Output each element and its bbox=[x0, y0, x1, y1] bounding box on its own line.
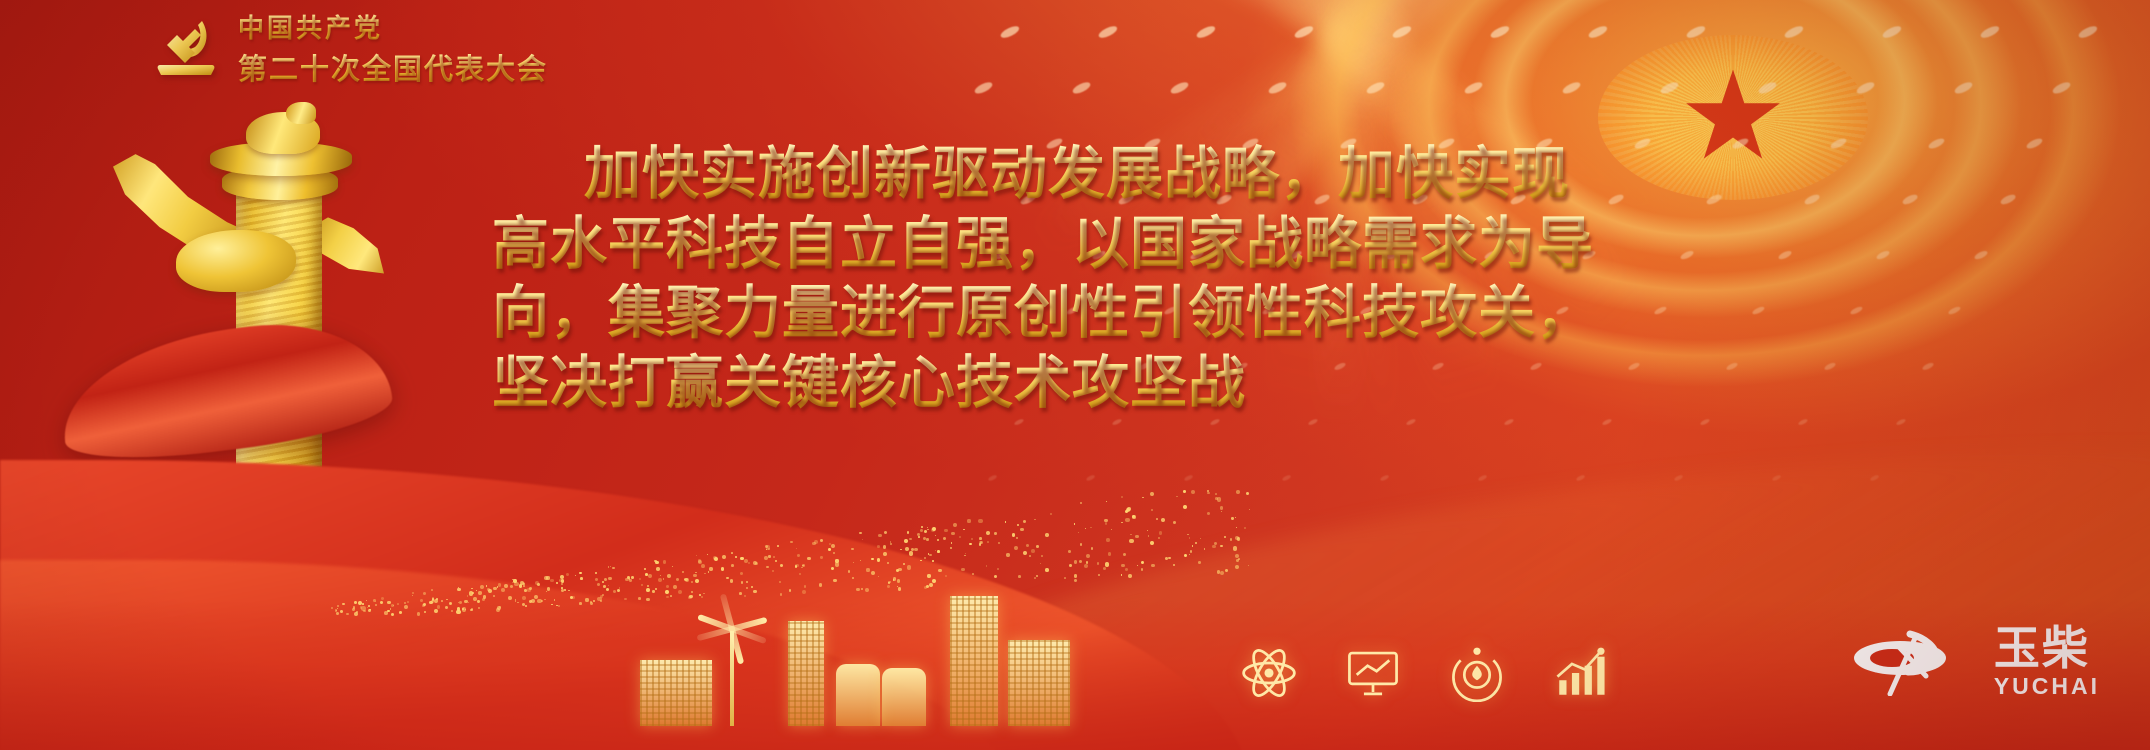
gold-particle bbox=[773, 556, 775, 558]
gold-particle bbox=[397, 603, 399, 605]
gold-particle bbox=[1105, 522, 1108, 525]
gold-particle bbox=[953, 523, 957, 527]
gold-particle bbox=[446, 599, 447, 600]
gold-particle bbox=[560, 575, 564, 579]
sparkle-dot bbox=[1391, 24, 1413, 40]
gold-particle bbox=[602, 581, 604, 583]
gold-particle bbox=[604, 578, 607, 581]
gold-particle bbox=[923, 537, 926, 540]
gold-particle bbox=[1200, 538, 1201, 539]
gold-particle bbox=[896, 569, 899, 572]
gold-particle bbox=[1020, 528, 1024, 532]
gold-particle bbox=[997, 568, 999, 570]
gold-particle bbox=[1235, 536, 1239, 540]
gold-particle bbox=[510, 585, 513, 588]
gold-particle bbox=[1147, 530, 1148, 531]
gold-particle bbox=[1121, 496, 1123, 498]
gold-particle bbox=[772, 570, 774, 572]
gold-particle bbox=[1132, 515, 1136, 519]
gold-particle bbox=[1189, 554, 1190, 555]
gold-particle bbox=[544, 576, 548, 580]
gold-particle bbox=[1142, 497, 1143, 498]
gold-particle bbox=[381, 597, 384, 600]
tech-icon-row bbox=[1240, 644, 1610, 702]
sparkle-dot bbox=[1195, 24, 1217, 40]
gold-particle bbox=[1231, 517, 1233, 519]
gold-particle bbox=[1224, 536, 1226, 538]
gold-particle bbox=[566, 573, 569, 576]
gold-particle bbox=[393, 605, 394, 606]
gold-particle bbox=[550, 579, 554, 583]
gold-particle bbox=[887, 562, 890, 565]
gold-particle bbox=[546, 576, 549, 579]
gold-particle bbox=[917, 533, 920, 536]
gold-particle bbox=[368, 609, 371, 612]
gold-particle bbox=[866, 568, 869, 571]
gold-particle bbox=[829, 543, 831, 545]
gold-particle bbox=[407, 601, 409, 603]
gold-particle bbox=[961, 568, 965, 572]
gold-particle bbox=[512, 582, 513, 583]
congress-title-line1: 中国共产党 bbox=[238, 8, 548, 45]
gold-particle bbox=[514, 582, 518, 586]
gold-particle bbox=[541, 600, 543, 602]
sparkle-dot bbox=[1463, 80, 1483, 95]
gold-particle bbox=[471, 588, 472, 589]
gold-particle bbox=[391, 604, 394, 607]
gold-particle bbox=[603, 585, 606, 588]
gold-particle bbox=[423, 592, 426, 595]
gold-particle bbox=[497, 606, 501, 610]
gold-particle bbox=[342, 603, 344, 605]
gold-particle bbox=[1125, 568, 1128, 571]
gold-particle bbox=[336, 612, 339, 615]
gold-particle bbox=[1106, 538, 1110, 542]
gold-particle bbox=[373, 599, 376, 602]
sparkle-dot bbox=[1267, 80, 1287, 95]
gold-particle bbox=[859, 532, 861, 534]
gold-particle bbox=[600, 595, 603, 598]
gold-particle bbox=[486, 585, 487, 586]
gold-particle bbox=[624, 598, 627, 601]
building-round-b bbox=[882, 668, 926, 726]
gold-particle bbox=[1078, 532, 1079, 533]
gold-particle bbox=[1221, 511, 1222, 512]
gold-particle bbox=[346, 613, 349, 616]
gold-particle bbox=[608, 566, 609, 567]
gold-particle bbox=[391, 613, 394, 616]
wind-turbine-icon bbox=[730, 631, 734, 726]
gold-particle bbox=[1236, 490, 1240, 494]
gold-particle bbox=[878, 534, 882, 538]
gold-particle bbox=[1244, 527, 1246, 529]
gold-particle bbox=[1137, 565, 1138, 566]
gold-particle bbox=[695, 572, 697, 574]
sparkle-dot bbox=[1979, 24, 2001, 40]
sparkle-dot bbox=[2051, 80, 2071, 95]
gold-particle bbox=[835, 559, 838, 562]
gold-particle bbox=[1183, 505, 1187, 509]
gold-particle bbox=[459, 601, 462, 604]
gold-particle bbox=[909, 538, 912, 541]
gold-particle bbox=[909, 551, 913, 555]
gold-particle bbox=[482, 598, 485, 601]
gold-particle bbox=[1158, 537, 1160, 539]
sparkle-dot bbox=[1210, 418, 1221, 426]
gold-particle bbox=[959, 536, 961, 538]
gold-particle bbox=[456, 610, 460, 614]
gold-particle bbox=[544, 599, 546, 601]
gold-particle bbox=[764, 556, 768, 560]
gold-particle bbox=[795, 565, 798, 568]
gold-particle bbox=[766, 566, 769, 569]
gold-particle bbox=[1217, 497, 1221, 501]
gold-particle bbox=[336, 610, 337, 611]
gold-particle bbox=[1135, 535, 1138, 538]
gold-particle bbox=[1041, 555, 1043, 557]
gold-particle bbox=[354, 612, 358, 616]
data-circle-icon bbox=[1448, 644, 1506, 702]
gold-particle bbox=[980, 541, 983, 544]
gold-particle bbox=[1151, 564, 1155, 568]
gold-particle bbox=[871, 558, 873, 560]
gold-particle bbox=[473, 597, 477, 601]
gold-particle bbox=[1108, 552, 1112, 556]
gold-particle bbox=[920, 529, 923, 532]
gold-particle bbox=[831, 544, 835, 548]
gold-particle bbox=[924, 557, 926, 559]
gold-particle bbox=[1080, 502, 1082, 504]
gold-particle bbox=[361, 606, 365, 610]
gold-particle bbox=[851, 548, 853, 550]
gold-particle bbox=[656, 567, 660, 571]
sparkle-dot bbox=[1700, 418, 1711, 426]
building-low bbox=[640, 660, 712, 726]
gold-particle bbox=[369, 609, 371, 611]
gold-particle bbox=[1192, 545, 1193, 546]
gold-particle bbox=[457, 607, 461, 611]
gold-particle bbox=[1012, 533, 1016, 537]
gold-particle bbox=[610, 566, 611, 567]
gold-particle bbox=[523, 583, 525, 585]
gold-particle bbox=[1016, 537, 1018, 539]
gold-particle bbox=[522, 596, 526, 600]
slogan-block: 加快实施创新驱动发展战略，加快实现 高水平科技自立自强，以国家战略需求为导 向，… bbox=[492, 140, 1692, 418]
gold-particle bbox=[907, 531, 909, 533]
gold-particle bbox=[644, 568, 646, 570]
yuchai-ellipse-mark-icon bbox=[1850, 630, 1978, 696]
gold-particle bbox=[556, 605, 557, 606]
building-mid bbox=[1008, 640, 1070, 726]
slogan-line-2: 高水平科技自立自强，以国家战略需求为导 bbox=[492, 210, 1692, 280]
gold-particle bbox=[1031, 549, 1035, 553]
gold-particle bbox=[731, 552, 733, 554]
gold-particle bbox=[907, 565, 911, 569]
gold-particle bbox=[1123, 553, 1126, 556]
gold-particle bbox=[1014, 546, 1018, 550]
gold-particle bbox=[1050, 513, 1052, 515]
sparkle-dot bbox=[1086, 474, 1096, 481]
atom-icon bbox=[1240, 644, 1298, 702]
gold-particle bbox=[471, 608, 474, 611]
gold-particle bbox=[1156, 518, 1158, 520]
gold-particle bbox=[478, 591, 481, 594]
gold-particle bbox=[1230, 538, 1233, 541]
gold-particle bbox=[903, 563, 905, 565]
gold-particle bbox=[998, 542, 1000, 544]
gold-particle bbox=[469, 591, 473, 595]
gold-particle bbox=[963, 529, 964, 530]
gold-particle bbox=[924, 530, 927, 533]
sparkle-dot bbox=[1803, 193, 1820, 206]
sparkle-dot bbox=[1380, 474, 1390, 481]
gold-particle bbox=[423, 603, 426, 606]
sparkle-dot bbox=[1849, 305, 1863, 316]
gold-particle bbox=[337, 605, 339, 607]
gold-particle bbox=[1189, 537, 1191, 539]
yuchai-logo: 玉柴 YUCHAI bbox=[1850, 626, 2100, 700]
gold-particle bbox=[937, 550, 940, 553]
gold-particle bbox=[1173, 521, 1176, 524]
gold-particle bbox=[905, 547, 909, 551]
gold-particle bbox=[337, 608, 338, 609]
gold-particle bbox=[462, 608, 464, 610]
gold-particle bbox=[964, 555, 966, 557]
gold-particle bbox=[987, 541, 989, 543]
gold-particle bbox=[498, 583, 502, 587]
gold-particle bbox=[831, 567, 835, 571]
gold-particle bbox=[848, 570, 851, 573]
gold-particle bbox=[1235, 517, 1236, 518]
gold-particle bbox=[1220, 545, 1222, 547]
gold-particle bbox=[450, 603, 451, 604]
gold-particle bbox=[833, 552, 835, 554]
yuchai-cn-text: 玉柴 bbox=[1994, 626, 2090, 670]
sparkle-dot bbox=[1927, 137, 1946, 151]
gold-particle bbox=[449, 602, 453, 606]
congress-title-line2: 第二十次全国代表大会 bbox=[238, 46, 548, 88]
gold-particle bbox=[1085, 528, 1086, 529]
gold-particle bbox=[488, 589, 492, 593]
gold-particle bbox=[437, 605, 441, 609]
gold-particle bbox=[579, 572, 582, 575]
gold-particle bbox=[1111, 529, 1112, 530]
gold-particle bbox=[554, 599, 556, 601]
gold-particle bbox=[468, 602, 469, 603]
building-round-a bbox=[836, 664, 880, 726]
gold-particle bbox=[404, 602, 406, 604]
sparkle-dot bbox=[1726, 362, 1739, 371]
gold-particle bbox=[1005, 521, 1007, 523]
gold-particle bbox=[597, 597, 601, 601]
gold-particle bbox=[517, 602, 519, 604]
gold-particle bbox=[768, 555, 770, 557]
gold-particle bbox=[340, 610, 343, 613]
sparkle-dot bbox=[973, 80, 993, 95]
sparkle-dot bbox=[1881, 24, 1903, 40]
gold-particle bbox=[884, 531, 887, 534]
gold-particle bbox=[775, 560, 777, 562]
gold-particle bbox=[602, 594, 604, 596]
gold-particle bbox=[820, 556, 822, 558]
gold-particle bbox=[580, 577, 583, 580]
gold-particle bbox=[524, 589, 527, 592]
gold-particle bbox=[921, 526, 923, 528]
gold-particle bbox=[353, 606, 355, 608]
gold-particle bbox=[493, 595, 495, 597]
gold-particle bbox=[535, 581, 539, 585]
gold-particle bbox=[853, 562, 854, 563]
sparkle-dot bbox=[1824, 362, 1837, 371]
gold-particle bbox=[1086, 554, 1090, 558]
gold-particle bbox=[755, 562, 758, 565]
gold-particle bbox=[1074, 560, 1077, 563]
gold-particle bbox=[654, 560, 657, 563]
gold-particle bbox=[696, 555, 697, 556]
gold-particle bbox=[1017, 524, 1019, 526]
gold-particle bbox=[551, 604, 553, 606]
gold-particle bbox=[537, 583, 540, 586]
gold-particle bbox=[1125, 518, 1129, 522]
gold-particle bbox=[835, 562, 839, 566]
gold-particle bbox=[436, 598, 438, 600]
gold-particle bbox=[898, 568, 901, 571]
sparkle-dot bbox=[1282, 474, 1292, 481]
gold-particle bbox=[366, 600, 368, 602]
gold-particle bbox=[1246, 492, 1249, 495]
gold-particle bbox=[429, 601, 432, 604]
gold-particle bbox=[487, 588, 490, 591]
golden-city-skyline bbox=[630, 576, 1190, 726]
gold-particle bbox=[920, 560, 922, 562]
gold-particle bbox=[709, 567, 712, 570]
yuchai-en-text: YUCHAI bbox=[1994, 673, 2100, 700]
gold-particle bbox=[352, 608, 355, 611]
sparkle-dot bbox=[2077, 24, 2099, 40]
gold-particle bbox=[380, 601, 383, 604]
gold-particle bbox=[911, 548, 914, 551]
gold-particle bbox=[790, 541, 792, 543]
gold-particle bbox=[1127, 507, 1131, 511]
gold-particle bbox=[335, 609, 338, 612]
gold-particle bbox=[619, 587, 620, 588]
gold-particle bbox=[1023, 520, 1026, 523]
five-pointed-star-icon bbox=[1685, 70, 1781, 166]
gold-particle bbox=[655, 561, 658, 564]
sparkle-dot bbox=[1947, 305, 1961, 316]
gold-particle bbox=[814, 540, 818, 544]
gold-particle bbox=[390, 608, 391, 609]
sparkle-dot bbox=[1922, 362, 1935, 371]
gold-particle bbox=[1214, 542, 1217, 545]
gold-particle bbox=[721, 567, 724, 570]
gold-particle bbox=[1105, 562, 1109, 566]
gold-particle bbox=[1190, 550, 1192, 552]
gold-particle bbox=[1204, 548, 1206, 550]
gold-particle bbox=[384, 611, 388, 615]
gold-particle bbox=[523, 585, 525, 587]
gold-particle bbox=[967, 519, 970, 522]
gold-particle bbox=[520, 581, 524, 585]
gold-particle bbox=[965, 553, 966, 554]
gold-particle bbox=[593, 600, 595, 602]
gold-particle bbox=[424, 611, 426, 613]
sparkle-dot bbox=[1875, 249, 1891, 261]
sparkle-dot bbox=[1561, 80, 1581, 95]
gold-particle bbox=[935, 535, 936, 536]
gold-particle bbox=[508, 596, 512, 600]
gold-particle bbox=[971, 538, 973, 540]
gold-particle bbox=[807, 557, 810, 560]
gold-particle bbox=[331, 607, 332, 608]
sparkle-dot bbox=[2025, 137, 2044, 151]
sparkle-dot bbox=[1999, 193, 2016, 206]
gold-particle bbox=[1045, 568, 1049, 572]
gold-particle bbox=[1029, 555, 1031, 557]
gold-particle bbox=[422, 604, 425, 607]
gold-particle bbox=[1130, 534, 1132, 536]
gold-particle bbox=[1036, 545, 1039, 548]
gold-particle bbox=[1195, 542, 1197, 544]
gold-particle bbox=[1132, 515, 1135, 518]
gold-particle bbox=[978, 519, 982, 523]
sparkle-dot bbox=[1478, 474, 1488, 481]
sparkle-dot bbox=[988, 474, 998, 481]
gold-particle bbox=[1084, 564, 1088, 568]
gold-particle bbox=[766, 549, 768, 551]
gold-particle bbox=[1141, 568, 1143, 570]
gold-particle bbox=[564, 589, 566, 591]
gold-particle bbox=[1237, 537, 1240, 540]
gold-particle bbox=[519, 584, 522, 587]
bar-chart-growth-icon bbox=[1552, 644, 1610, 702]
gold-particle bbox=[704, 573, 706, 575]
gold-particle bbox=[890, 541, 892, 543]
gold-particle bbox=[1151, 509, 1153, 511]
gold-particle bbox=[493, 587, 497, 591]
gold-particle bbox=[1183, 490, 1186, 493]
gold-particle bbox=[608, 577, 611, 580]
gold-particle bbox=[1150, 492, 1154, 496]
slogan-line-1: 加快实施创新驱动发展战略，加快实现 bbox=[492, 140, 1692, 210]
slogan-line-3: 向，集聚力量进行原创性引领性科技攻关， bbox=[492, 279, 1692, 349]
gold-particle bbox=[1215, 493, 1217, 495]
gold-particle bbox=[568, 590, 570, 592]
gold-particle bbox=[1121, 564, 1125, 568]
gold-particle bbox=[606, 588, 609, 591]
gold-particle bbox=[802, 565, 803, 566]
banner-root: 中国共产党 第二十次全国代表大会 加快实施创新驱动发展战略，加快实现 高水平科技… bbox=[0, 0, 2150, 750]
gold-particle bbox=[477, 600, 479, 602]
gold-particle bbox=[590, 601, 592, 603]
gold-particle bbox=[1126, 508, 1130, 512]
gold-particle bbox=[434, 599, 438, 603]
gold-particle bbox=[877, 558, 880, 561]
gold-particle bbox=[931, 528, 935, 532]
gold-particle bbox=[597, 583, 600, 586]
gold-particle bbox=[753, 561, 757, 565]
gold-particle bbox=[926, 538, 928, 540]
gold-particle bbox=[625, 578, 629, 582]
gold-particle bbox=[698, 560, 702, 564]
gold-particle bbox=[537, 599, 541, 603]
sparkle-dot bbox=[1602, 418, 1613, 426]
gold-particle bbox=[1165, 557, 1168, 560]
gold-particle bbox=[595, 572, 598, 575]
gold-particle bbox=[1006, 553, 1009, 556]
sparkle-dot bbox=[1071, 80, 1091, 95]
gold-particle bbox=[522, 603, 525, 606]
